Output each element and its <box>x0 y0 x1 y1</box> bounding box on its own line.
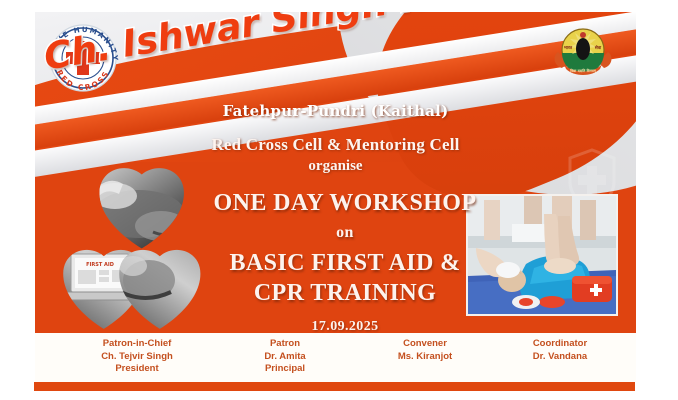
credit-person: Dr. Vandana <box>495 351 625 364</box>
credit-designation: President <box>67 363 207 376</box>
credit-convener: Convener Ms. Kiranjot <box>365 338 485 363</box>
poster-body: SERVE HUMANITY RED CROSS विद्या ददाति वि… <box>35 12 636 333</box>
organise-word: organise <box>35 158 636 175</box>
credit-coordinator: Coordinator Dr. Vandana <box>495 338 625 363</box>
credit-person: Ch. Tejvir Singh <box>67 351 207 364</box>
organising-cells: Red Cross Cell & Mentoring Cell <box>35 135 636 155</box>
event-connector: on <box>165 224 525 242</box>
credit-patron-in-chief: Patron-in-Chief Ch. Tejvir Singh Preside… <box>67 338 207 376</box>
credit-person: Ms. Kiranjot <box>365 351 485 364</box>
credit-designation: Principal <box>225 363 345 376</box>
poster-canvas: SERVE HUMANITY RED CROSS विद्या ददाति वि… <box>0 0 678 400</box>
college-emblem-logo: विद्या ददाति विनयम् भारत सेवा <box>550 22 616 84</box>
event-topic-line1: BASIC FIRST AID & <box>165 250 525 277</box>
credit-role: Convener <box>365 338 485 351</box>
credit-role: Patron-in-Chief <box>67 338 207 351</box>
svg-text:सेवा: सेवा <box>594 45 602 50</box>
credit-role: Patron <box>225 338 345 351</box>
institution-location: Fatehpur-Pundri (Kaithal) <box>35 102 636 120</box>
credit-patron: Patron Dr. Amita Principal <box>225 338 345 376</box>
heart-photo-collage: FIRST AID <box>57 162 217 333</box>
footer-credits: Patron-in-Chief Ch. Tejvir Singh Preside… <box>35 333 636 382</box>
event-headline: ONE DAY WORKSHOP <box>165 190 525 217</box>
event-topic-line2: CPR TRAINING <box>165 280 525 307</box>
red-cross-logo: SERVE HUMANITY RED CROSS <box>41 16 125 100</box>
svg-text:भारत: भारत <box>564 45 573 50</box>
event-date: 17.09.2025 <box>165 319 525 333</box>
bottom-orange-bar <box>34 382 635 391</box>
credit-role: Coordinator <box>495 338 625 351</box>
credit-person: Dr. Amita <box>225 351 345 364</box>
svg-text:FIRST AID: FIRST AID <box>86 262 114 268</box>
